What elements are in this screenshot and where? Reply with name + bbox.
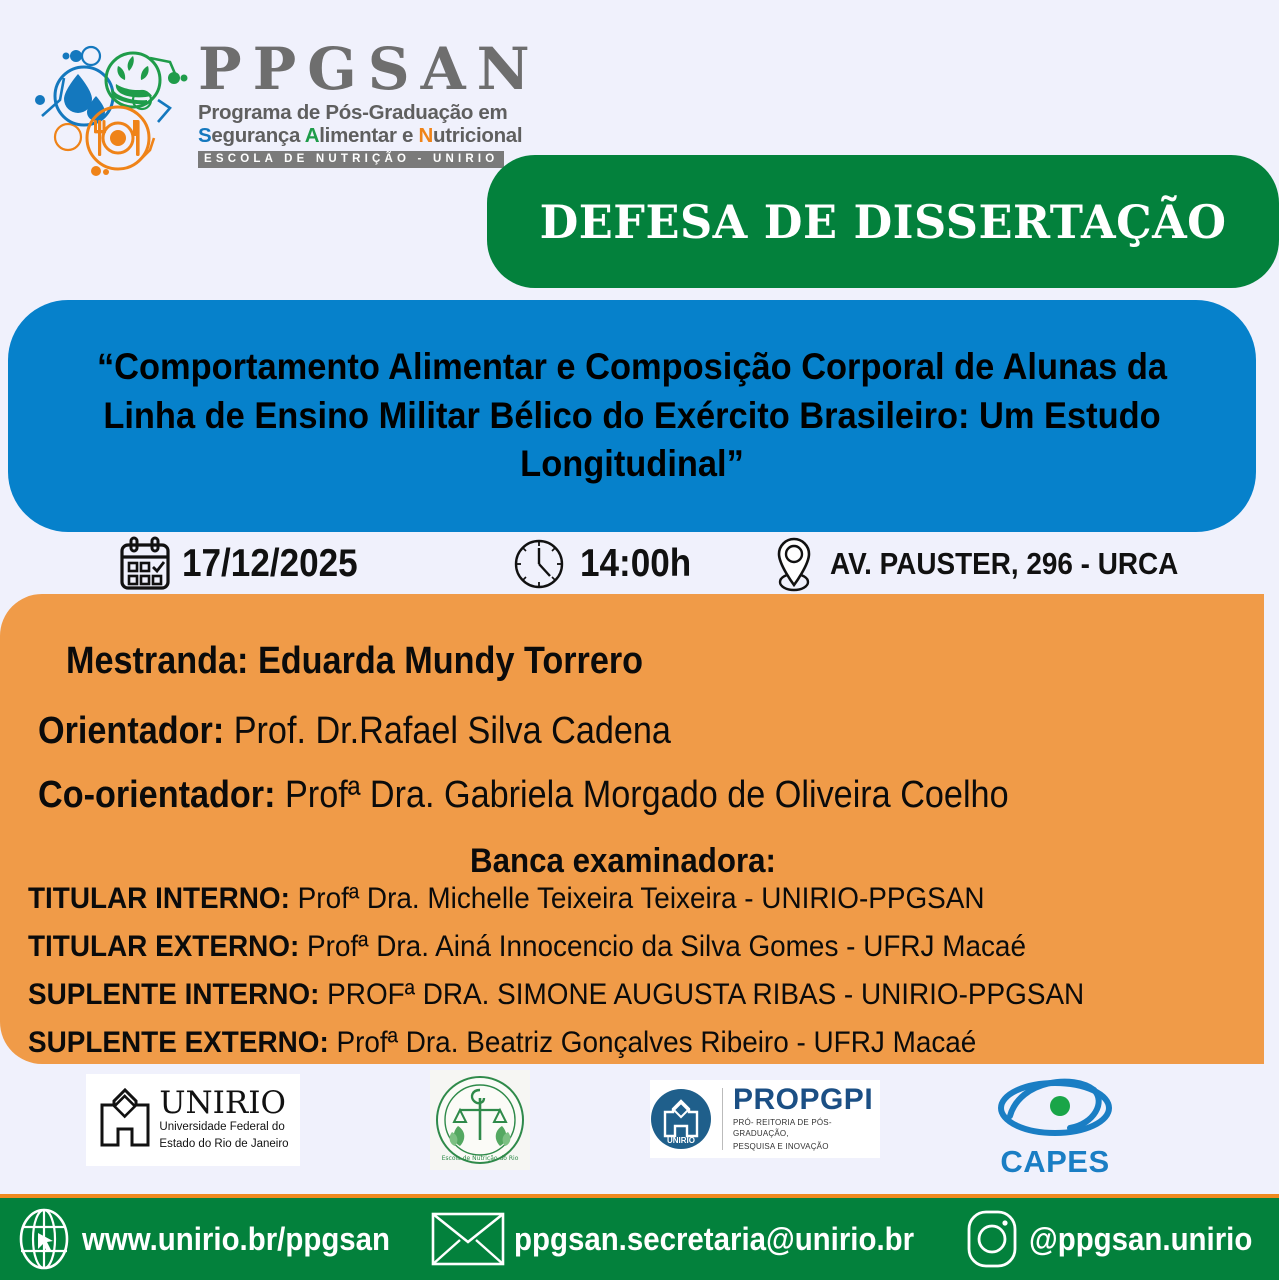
advisor-name: Prof. Dr.Rafael Silva Cadena	[234, 710, 671, 752]
footer-instagram-text: @ppgsan.unirio	[1029, 1221, 1252, 1258]
board-member-name: Profª Dra. Ainá Innocencio da Silva Gome…	[307, 930, 1026, 963]
board-member-name: Profª Dra. Michelle Teixeira Teixeira - …	[298, 882, 985, 915]
capes-swirl-icon	[990, 1072, 1120, 1144]
footer-email[interactable]: ppgsan.secretaria@unirio.br	[430, 1210, 949, 1268]
water-drop-icon	[64, 74, 92, 113]
event-place: AV. PAUSTER, 296 - URCA	[770, 535, 1217, 593]
clock-icon	[512, 536, 566, 592]
board-member-role: SUPLENTE EXTERNO:	[28, 1026, 329, 1059]
footer-website[interactable]: www.unirio.br/ppgsan	[14, 1207, 417, 1271]
calendar-icon	[118, 536, 172, 592]
unirio-shield-icon	[97, 1087, 153, 1153]
escola-nutricao-seal-icon: Escola de Nutrição do Rio	[434, 1074, 526, 1166]
event-info-row: 17/12/2025 14:00h	[0, 533, 1279, 595]
ppgsan-school-banner: ESCOLA DE NUTRIÇÃO - UNIRIO	[198, 151, 504, 168]
propgpi-subtitle-line2: PESQUISA E INOVAÇÃO	[733, 1142, 880, 1153]
board-member-row: SUPLENTE INTERNO: PROFª DRA. SIMONE AUGU…	[28, 978, 1181, 1012]
board-title: Banca examinadora:	[470, 842, 776, 881]
coadvisor-label: Co-orientador:	[38, 774, 275, 816]
event-date-text: 17/12/2025	[182, 542, 358, 586]
unirio-subtitle-line1: Universidade Federal do	[159, 1120, 288, 1134]
event-time: 14:00h	[512, 536, 704, 592]
plate-cutlery-icon	[94, 120, 140, 156]
ppgsan-logo-mark	[30, 38, 190, 178]
instagram-icon	[963, 1208, 1021, 1270]
board-member-row: TITULAR EXTERNO: Profª Dra. Ainá Innocen…	[28, 930, 1181, 964]
hand-plant-icon	[111, 56, 152, 104]
board-member-role: SUPLENTE INTERNO:	[28, 978, 319, 1011]
ppgsan-logo: PPGSAN Programa de Pós-Graduação em Segu…	[30, 38, 530, 188]
propgpi-badge-label: UNIRIO	[667, 1136, 695, 1145]
propgpi-name: PROPGPI	[733, 1085, 880, 1115]
board-member-row: SUPLENTE EXTERNO: Profª Dra. Beatriz Gon…	[28, 1026, 1181, 1060]
ppgsan-logo-text: PPGSAN Programa de Pós-Graduação em Segu…	[198, 40, 528, 168]
coadvisor-name: Profª Dra. Gabriela Morgado de Oliveira …	[285, 774, 1009, 816]
details-panel: Mestranda: Eduarda Mundy Torrero Orienta…	[0, 594, 1264, 1064]
contact-footer: www.unirio.br/ppgsan ppgsan.secretaria@u…	[0, 1198, 1279, 1280]
board-member-name: PROFª DRA. SIMONE AUGUSTA RIBAS - UNIRIO…	[327, 978, 1084, 1011]
propgpi-subtitle-line1: PRÓ- REITORIA DE PÓS-GRADUAÇÃO,	[733, 1118, 880, 1140]
unirio-subtitle-line2: Estado do Rio de Janeiro	[159, 1137, 288, 1151]
board-member-name: Profª Dra. Beatriz Gonçalves Ribeiro - U…	[336, 1026, 976, 1059]
ppgsan-subtitle-line1: Programa de Pós-Graduação em	[198, 102, 528, 125]
board-member-row: TITULAR INTERNO: Profª Dra. Michelle Tei…	[28, 882, 1181, 916]
defense-type-label: DEFESA DE DISSERTAÇÃO	[540, 195, 1227, 249]
escola-nutricao-logo: Escola de Nutrição do Rio	[430, 1070, 530, 1170]
board-member-role: TITULAR INTERNO:	[28, 882, 290, 915]
envelope-icon	[430, 1210, 506, 1268]
coadvisor-line: Co-orientador: Profª Dra. Gabriela Morga…	[38, 769, 1244, 823]
thesis-title-box: “Comportamento Alimentar e Composição Co…	[8, 300, 1256, 532]
map-pin-icon	[770, 535, 818, 593]
advisor-line: Orientador: Prof. Dr.Rafael Silva Cadena	[38, 710, 671, 753]
advisor-label: Orientador:	[38, 710, 224, 752]
propgpi-logo: UNIRIO PROPGPI PRÓ- REITORIA DE PÓS-GRAD…	[650, 1080, 880, 1158]
student-name: Eduarda Mundy Torrero	[258, 640, 643, 682]
student-label: Mestranda:	[66, 640, 248, 682]
capes-name: CAPES	[990, 1144, 1120, 1180]
ppgsan-subtitle-line2: Segurança Alimentar e Nutricional	[198, 125, 528, 148]
ppgsan-acronym: PPGSAN	[198, 40, 528, 98]
event-time-text: 14:00h	[580, 542, 691, 586]
board-member-role: TITULAR EXTERNO:	[28, 930, 299, 963]
propgpi-divider	[722, 1088, 723, 1150]
event-date: 17/12/2025	[118, 536, 377, 592]
board-list: TITULAR INTERNO: Profª Dra. Michelle Tei…	[28, 882, 1268, 1074]
unirio-name: UNIRIO	[159, 1089, 288, 1118]
defense-type-banner: DEFESA DE DISSERTAÇÃO	[487, 155, 1279, 288]
poster-root: PPGSAN Programa de Pós-Graduação em Segu…	[0, 0, 1279, 1280]
thesis-title-text: “Comportamento Alimentar e Composição Co…	[52, 343, 1213, 489]
footer-website-text: www.unirio.br/ppgsan	[82, 1221, 390, 1258]
dot-blue-icon	[70, 50, 82, 62]
sponsor-logo-strip: UNIRIO Universidade Federal do Estado do…	[0, 1068, 1279, 1190]
capes-logo: CAPES	[985, 1072, 1125, 1180]
unirio-logo: UNIRIO Universidade Federal do Estado do…	[86, 1074, 300, 1166]
event-place-text: AV. PAUSTER, 296 - URCA	[830, 546, 1178, 582]
footer-instagram[interactable]: @ppgsan.unirio	[963, 1208, 1272, 1270]
escola-nutricao-caption: Escola de Nutrição do Rio	[442, 1155, 519, 1162]
propgpi-unirio-badge-icon: UNIRIO	[650, 1088, 712, 1150]
student-line: Mestranda: Eduarda Mundy Torrero	[66, 640, 643, 683]
footer-email-text: ppgsan.secretaria@unirio.br	[514, 1221, 914, 1258]
globe-icon	[14, 1207, 74, 1271]
